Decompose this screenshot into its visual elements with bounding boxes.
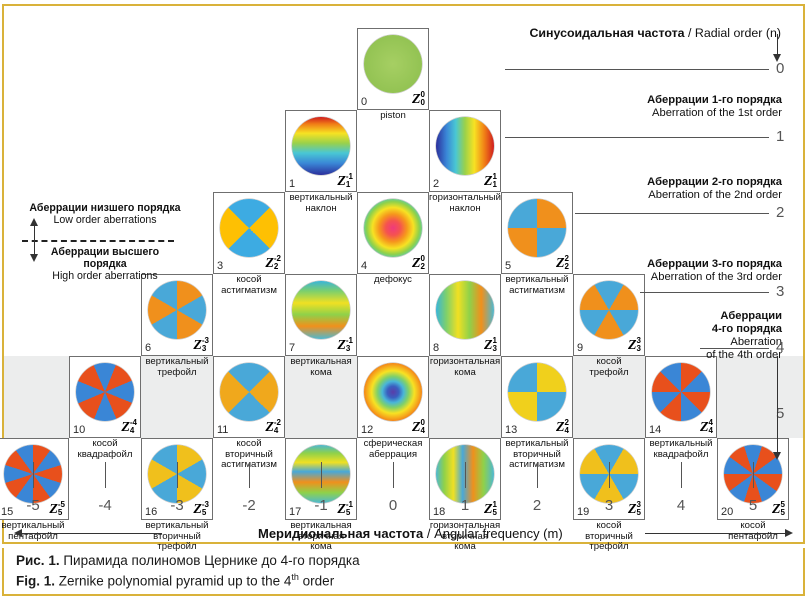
high-order-en: High order aberrations <box>10 270 200 282</box>
zernike-subscript-11: 4 <box>274 427 281 435</box>
order-annotation-1: Аберрации 1-го порядка Aberration of the… <box>482 94 782 120</box>
zernike-symbol-letter: Z <box>337 174 346 189</box>
angular-tick-label-0: 0 <box>378 497 408 514</box>
order-divider-arrow-line <box>34 224 35 256</box>
high-order-annotation: Аберрации высшего порядка High order abe… <box>10 246 200 282</box>
zernike-map-4 <box>364 199 422 257</box>
zernike-symbol-20: Z55 <box>772 500 785 518</box>
zernike-index-20: 20 <box>721 507 733 518</box>
zernike-cell-0[interactable]: 0Z00 <box>357 28 429 110</box>
zernike-subscript-13: 4 <box>565 427 569 435</box>
zernike-name-line: трефойл <box>571 368 647 379</box>
zernike-symbol-19: Z35 <box>628 500 641 518</box>
order-3-en: Aberration of the 3rd order <box>482 271 782 284</box>
caption-ru-label: Рис. 1. <box>16 553 60 568</box>
angular-tick-label--3: -3 <box>162 497 192 514</box>
zernike-symbol-letter: Z <box>337 502 346 517</box>
zernike-cell-7[interactable]: 7Z-13 <box>285 274 357 356</box>
zernike-symbol-orders: 44 <box>709 419 713 435</box>
zernike-index-15: 15 <box>1 507 13 518</box>
zernike-subscript-15: 5 <box>58 509 65 517</box>
zernike-name-7: вертикальнаякома <box>283 357 359 378</box>
zernike-symbol-letter: Z <box>412 420 421 435</box>
zernike-subscript-19: 5 <box>637 509 641 517</box>
angular-tick-label-2: 2 <box>522 497 552 514</box>
radial-order-4: 4 <box>776 339 784 356</box>
zernike-name-line: кома <box>427 542 503 553</box>
order-4-ru-line1: Аберрации <box>482 310 782 323</box>
zernike-subscript-0: 0 <box>421 99 425 107</box>
angular-tick-label-4: 4 <box>666 497 696 514</box>
radial-order-2: 2 <box>776 204 784 221</box>
zernike-subscript-4: 2 <box>421 263 425 271</box>
zernike-name-line: косой <box>211 275 287 286</box>
order-annotation-4: Аберрации 4-го порядка Aberration of the… <box>482 310 782 362</box>
zernike-pyramid-figure: 0Z00piston1Z-11вертикальныйнаклон2Z11гор… <box>0 0 809 600</box>
zernike-name-6: вертикальныйтрефойл <box>139 357 215 378</box>
zernike-name-line: косой <box>67 439 143 450</box>
angular-tick--1 <box>321 462 322 488</box>
zernike-cell-10[interactable]: 10Z-44 <box>69 356 141 438</box>
order-divider-arrow-up <box>30 218 38 226</box>
zernike-map-11 <box>220 363 278 421</box>
zernike-symbol-11: Z-24 <box>265 418 281 436</box>
caption-english: Fig. 1. Zernike polynomial pyramid up to… <box>16 572 334 589</box>
zernike-index-17: 17 <box>289 507 301 518</box>
zernike-name-14: вертикальныйквадрафойл <box>643 439 719 460</box>
zernike-index-2: 2 <box>433 179 439 190</box>
zernike-symbol-orders: -55 <box>58 501 65 517</box>
zernike-name-19: косойвторичныйтрефойл <box>571 521 647 553</box>
order-divider-arrow-down <box>30 254 38 262</box>
zernike-symbol-17: Z-15 <box>337 500 353 518</box>
radial-axis-arrow-head-bottom <box>773 452 781 460</box>
order-annotation-2: Аберрации 2-го порядка Aberration of the… <box>482 176 782 202</box>
angular-axis-arrow-line-left <box>22 533 162 534</box>
zernike-name-line: астигматизм <box>211 286 287 297</box>
caption-russian: Рис. 1. Пирамида полиномов Цернике до 4-… <box>16 553 360 568</box>
zernike-name-line: кома <box>427 368 503 379</box>
zernike-name-line: косой <box>211 439 287 450</box>
zernike-name-line: вертикальный <box>0 521 71 532</box>
zernike-symbol-3: Z-22 <box>265 254 281 272</box>
zernike-subscript-16: 5 <box>202 509 209 517</box>
zernike-index-7: 7 <box>289 343 295 354</box>
zernike-name-line: наклон <box>427 204 503 215</box>
zernike-subscript-10: 4 <box>130 427 137 435</box>
angular-tick-1 <box>465 462 466 488</box>
zernike-cell-1[interactable]: 1Z-11 <box>285 110 357 192</box>
zernike-name-line: вертикальный <box>139 357 215 368</box>
angular-tick--4 <box>105 462 106 488</box>
zernike-name-line: трефойл <box>139 542 215 553</box>
zernike-name-line: кома <box>283 542 359 553</box>
zernike-symbol-orders: -24 <box>274 419 281 435</box>
angular-axis-title-en: Angular frequency (m) <box>434 526 563 541</box>
zernike-cell-3[interactable]: 3Z-22 <box>213 192 285 274</box>
zernike-symbol-7: Z-13 <box>337 336 353 354</box>
zernike-symbol-1: Z-11 <box>337 172 353 190</box>
zernike-map-12 <box>364 363 422 421</box>
zernike-index-1: 1 <box>289 179 295 190</box>
zernike-symbol-letter: Z <box>121 420 130 435</box>
angular-tick--3 <box>177 462 178 488</box>
order-divider-dashed <box>22 240 174 242</box>
angular-tick-2 <box>537 462 538 488</box>
zernike-name-1: вертикальныйнаклон <box>283 193 359 214</box>
radial-order-1: 1 <box>776 128 784 145</box>
zernike-cell-13[interactable]: 13Z24 <box>501 356 573 438</box>
zernike-symbol-orders: -35 <box>202 501 209 517</box>
high-order-ru-line2: порядка <box>10 258 200 270</box>
zernike-symbol-orders: 15 <box>493 501 497 517</box>
zernike-symbol-letter: Z <box>49 502 58 517</box>
zernike-symbol-letter: Z <box>628 502 637 517</box>
order-rule-0 <box>505 69 769 70</box>
zernike-subscript-1: 1 <box>346 181 353 189</box>
angular-axis-arrow-head-left <box>14 529 22 537</box>
zernike-symbol-orders: -11 <box>346 173 353 189</box>
zernike-name-4: дефокус <box>355 275 431 286</box>
zernike-map-1 <box>292 117 350 175</box>
order-4-ru-line2: 4-го порядка <box>482 323 782 336</box>
zernike-cell-11[interactable]: 11Z-24 <box>213 356 285 438</box>
zernike-symbol-letter: Z <box>700 420 709 435</box>
zernike-name-line: вертикальный <box>283 193 359 204</box>
zernike-symbol-15: Z-55 <box>49 500 65 518</box>
zernike-symbol-6: Z-33 <box>193 336 209 354</box>
order-1-en: Aberration of the 1st order <box>482 107 782 120</box>
zernike-map-14 <box>652 363 710 421</box>
angular-tick-4 <box>681 462 682 488</box>
zernike-map-2 <box>436 117 494 175</box>
zernike-symbol-letter: Z <box>556 420 565 435</box>
zernike-map-5 <box>508 199 566 257</box>
zernike-subscript-3: 2 <box>274 263 281 271</box>
angular-tick-0 <box>393 462 394 488</box>
radial-axis-title-en: Radial order (n) <box>695 26 781 40</box>
order-1-ru: Аберрации 1-го порядка <box>482 94 782 107</box>
zernike-symbol-orders: -33 <box>202 337 209 353</box>
zernike-index-13: 13 <box>505 425 517 436</box>
zernike-index-0: 0 <box>361 97 367 108</box>
zernike-symbol-orders: -44 <box>130 419 137 435</box>
zernike-name-line: косой <box>571 521 647 532</box>
zernike-symbol-10: Z-44 <box>121 418 137 436</box>
zernike-name-12: сферическаяаберрация <box>355 439 431 460</box>
zernike-name-line: аберрация <box>355 450 431 461</box>
angular-tick-label--5: -5 <box>18 497 48 514</box>
zernike-symbol-orders: 35 <box>637 501 641 517</box>
zernike-symbol-orders: 04 <box>421 419 425 435</box>
low-order-en: Low order aberrations <box>10 214 200 226</box>
zernike-map-7 <box>292 281 350 339</box>
caption-en-text-after: order <box>299 574 334 589</box>
zernike-symbol-orders: -15 <box>346 501 353 517</box>
zernike-name-line: косой <box>715 521 791 532</box>
zernike-cell-6[interactable]: 6Z-33 <box>141 274 213 356</box>
zernike-name-line: piston <box>355 111 431 122</box>
angular-tick-label-3: 3 <box>594 497 624 514</box>
order-4-en-line2: of the 4th order <box>482 349 782 362</box>
zernike-name-20: косойпентафойл <box>715 521 791 542</box>
zernike-name-line: трефойл <box>139 368 215 379</box>
order-annotation-3: Аберрации 3-го порядка Aberration of the… <box>482 258 782 284</box>
zernike-map-13 <box>508 363 566 421</box>
angular-axis-title-ru: Меридиональная частота <box>258 526 423 541</box>
radial-axis-title-sep: / <box>685 26 695 40</box>
zernike-name-line: квадрафойл <box>67 450 143 461</box>
zernike-symbol-letter: Z <box>412 92 421 107</box>
radial-order-axis-title: Синусоидальная частота / Radial order (n… <box>529 26 781 40</box>
zernike-symbol-18: Z15 <box>484 500 497 518</box>
zernike-index-19: 19 <box>577 507 589 518</box>
low-order-annotation: Аберрации низшего порядка Low order aber… <box>10 202 200 226</box>
zernike-symbol-letter: Z <box>412 256 421 271</box>
caption-en-text-before: Zernike polynomial pyramid up to the 4 <box>59 574 292 589</box>
zernike-symbol-orders: 02 <box>421 255 425 271</box>
zernike-name-line: вертикальный <box>643 439 719 450</box>
zernike-symbol-letter: Z <box>193 502 202 517</box>
zernike-name-line: вертикальный <box>139 521 215 532</box>
zernike-index-3: 3 <box>217 261 223 272</box>
zernike-symbol-13: Z24 <box>556 418 569 436</box>
zernike-subscript-17: 5 <box>346 509 353 517</box>
zernike-cell-14[interactable]: 14Z44 <box>645 356 717 438</box>
order-rule-3 <box>640 292 769 293</box>
zernike-symbol-orders: 24 <box>565 419 569 435</box>
caption-ru-text: Пирамида полиномов Цернике до 4-го поряд… <box>63 553 359 568</box>
order-3-ru: Аберрации 3-го порядка <box>482 258 782 271</box>
zernike-subscript-18: 5 <box>493 509 497 517</box>
zernike-map-0 <box>364 35 422 93</box>
zernike-symbol-orders: 55 <box>781 501 785 517</box>
zernike-name-line: наклон <box>283 204 359 215</box>
zernike-symbol-letter: Z <box>337 338 346 353</box>
zernike-name-line: вертикальная <box>283 357 359 368</box>
zernike-index-11: 11 <box>217 425 228 436</box>
zernike-symbol-letter: Z <box>265 420 274 435</box>
zernike-name-line: квадрафойл <box>643 450 719 461</box>
radial-axis-arrow-line-top <box>777 34 778 56</box>
order-2-ru: Аберрации 2-го порядка <box>482 176 782 189</box>
order-4-en-line1: Aberration <box>482 336 782 349</box>
angular-axis-title-sep: / <box>423 526 434 541</box>
zernike-name-line: сферическая <box>355 439 431 450</box>
zernike-subscript-7: 3 <box>346 345 353 353</box>
caption-en-label: Fig. 1. <box>16 574 55 589</box>
angular-tick--2 <box>249 462 250 488</box>
zernike-name-line: трефойл <box>571 542 647 553</box>
zernike-subscript-6: 3 <box>202 345 209 353</box>
zernike-name-line: дефокус <box>355 275 431 286</box>
zernike-index-12: 12 <box>361 425 373 436</box>
zernike-symbol-4: Z02 <box>412 254 425 272</box>
zernike-name-15: вертикальныйпентафойл <box>0 521 71 542</box>
zernike-index-6: 6 <box>145 343 151 354</box>
low-order-ru: Аберрации низшего порядка <box>10 202 200 214</box>
radial-order-0: 0 <box>776 60 784 77</box>
zernike-name-line: кома <box>283 368 359 379</box>
zernike-symbol-letter: Z <box>265 256 274 271</box>
angular-tick-label--1: -1 <box>306 497 336 514</box>
caption-en-superscript: th <box>291 572 299 582</box>
radial-axis-arrow-head-top <box>773 54 781 62</box>
zernike-index-14: 14 <box>649 425 661 436</box>
angular-frequency-axis-title: Меридиональная частота / Angular frequen… <box>258 526 563 541</box>
zernike-subscript-20: 5 <box>781 509 785 517</box>
radial-axis-arrow-line-bottom <box>777 356 778 454</box>
angular-axis-arrow-line-right <box>645 533 785 534</box>
zernike-name-line: астигматизм <box>499 286 575 297</box>
zernike-symbol-letter: Z <box>193 338 202 353</box>
caption-box: Рис. 1. Пирамида полиномов Цернике до 4-… <box>2 548 805 596</box>
zernike-map-6 <box>148 281 206 339</box>
zernike-subscript-12: 4 <box>421 427 425 435</box>
zernike-name-16: вертикальныйвторичныйтрефойл <box>139 521 215 553</box>
zernike-index-8: 8 <box>433 343 439 354</box>
radial-order-3: 3 <box>776 283 784 300</box>
order-2-en: Aberration of the 2nd order <box>482 189 782 202</box>
zernike-index-10: 10 <box>73 425 85 436</box>
order-rule-1 <box>505 137 769 138</box>
zernike-symbol-0: Z00 <box>412 90 425 108</box>
zernike-subscript-14: 4 <box>709 427 713 435</box>
order-rule-2 <box>575 213 769 214</box>
zernike-symbol-orders: 00 <box>421 91 425 107</box>
zernike-index-4: 4 <box>361 261 367 272</box>
angular-tick-label--2: -2 <box>234 497 264 514</box>
zernike-map-10 <box>76 363 134 421</box>
angular-tick-5 <box>753 462 754 488</box>
zernike-name-0: piston <box>355 111 431 122</box>
zernike-symbol-letter: Z <box>772 502 781 517</box>
zernike-symbol-orders: -22 <box>274 255 281 271</box>
zernike-name-line: вертикальный <box>499 439 575 450</box>
zernike-index-16: 16 <box>145 507 157 518</box>
angular-tick-label--4: -4 <box>90 497 120 514</box>
angular-tick-3 <box>609 462 610 488</box>
angular-tick-label-5: 5 <box>738 497 768 514</box>
zernike-map-3 <box>220 199 278 257</box>
zernike-symbol-14: Z44 <box>700 418 713 436</box>
zernike-index-18: 18 <box>433 507 445 518</box>
high-order-ru-line1: Аберрации высшего <box>10 246 200 258</box>
zernike-symbol-letter: Z <box>484 502 493 517</box>
angular-axis-arrow-head-right <box>785 529 793 537</box>
zernike-cell-12[interactable]: 12Z04 <box>357 356 429 438</box>
zernike-symbol-16: Z-35 <box>193 500 209 518</box>
zernike-symbol-orders: -13 <box>346 337 353 353</box>
zernike-cell-4[interactable]: 4Z02 <box>357 192 429 274</box>
angular-tick--5 <box>33 462 34 488</box>
zernike-name-3: косойастигматизм <box>211 275 287 296</box>
zernike-symbol-12: Z04 <box>412 418 425 436</box>
angular-tick-label-1: 1 <box>450 497 480 514</box>
radial-axis-title-ru: Синусоидальная частота <box>529 26 684 40</box>
zernike-name-10: косойквадрафойл <box>67 439 143 460</box>
